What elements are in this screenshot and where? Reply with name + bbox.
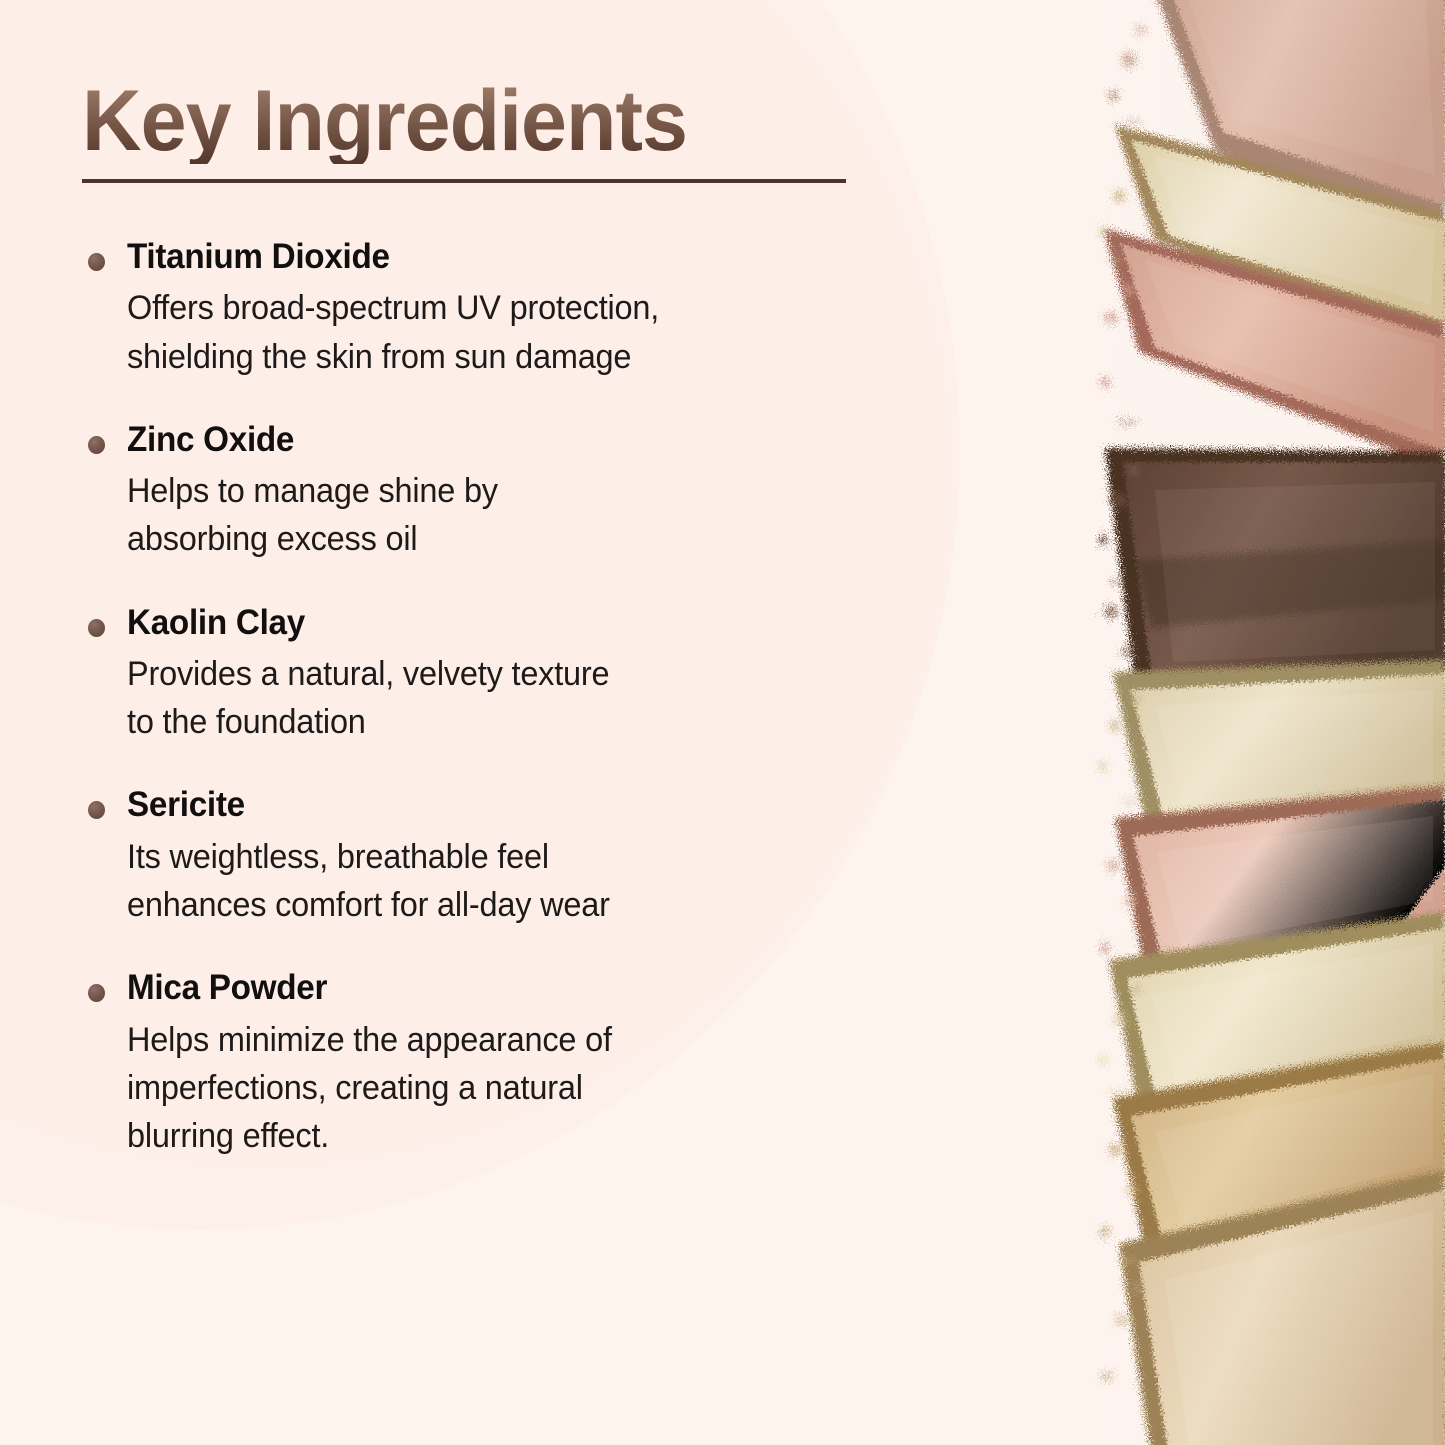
ingredients-infographic: Key Ingredients Titanium Dioxide Offers … [0, 0, 1445, 1445]
ingredient-name: Titanium Dioxide [127, 236, 920, 277]
list-item: Kaolin Clay Provides a natural, velvety … [82, 602, 962, 747]
bullet-dot-icon [88, 253, 105, 271]
ingredient-description: Offers broad-spectrum UV protection, shi… [127, 284, 920, 381]
ingredient-list: Titanium Dioxide Offers broad-spectrum U… [82, 236, 962, 1160]
ingredient-name: Mica Powder [127, 967, 920, 1008]
bullet-dot-icon [88, 619, 105, 637]
bullet-dot-icon [88, 801, 105, 819]
list-item: Zinc Oxide Helps to manage shine by abso… [82, 419, 962, 564]
content-column: Key Ingredients Titanium Dioxide Offers … [0, 0, 1000, 1445]
bullet-dot-icon [88, 436, 105, 454]
title-underline [82, 179, 846, 183]
powder-swatch-image [1095, 0, 1445, 1445]
ingredient-name: Kaolin Clay [127, 602, 920, 643]
list-item: Mica Powder Helps minimize the appearanc… [82, 967, 962, 1160]
ingredient-name: Sericite [127, 784, 920, 825]
ingredient-description: Its weightless, breathable feel enhances… [127, 833, 920, 930]
ingredient-description: Helps to manage shine by absorbing exces… [127, 467, 920, 564]
list-item: Titanium Dioxide Offers broad-spectrum U… [82, 236, 962, 381]
ingredient-description: Provides a natural, velvety texture to t… [127, 650, 920, 747]
ingredient-description: Helps minimize the appearance of imperfe… [127, 1016, 920, 1161]
ingredient-name: Zinc Oxide [127, 419, 920, 460]
page-title: Key Ingredients [82, 78, 687, 164]
list-item: Sericite Its weightless, breathable feel… [82, 784, 962, 929]
powder-swatch-graphic [1095, 0, 1445, 1445]
page-title-block: Key Ingredients [82, 78, 852, 164]
bullet-dot-icon [88, 984, 105, 1002]
